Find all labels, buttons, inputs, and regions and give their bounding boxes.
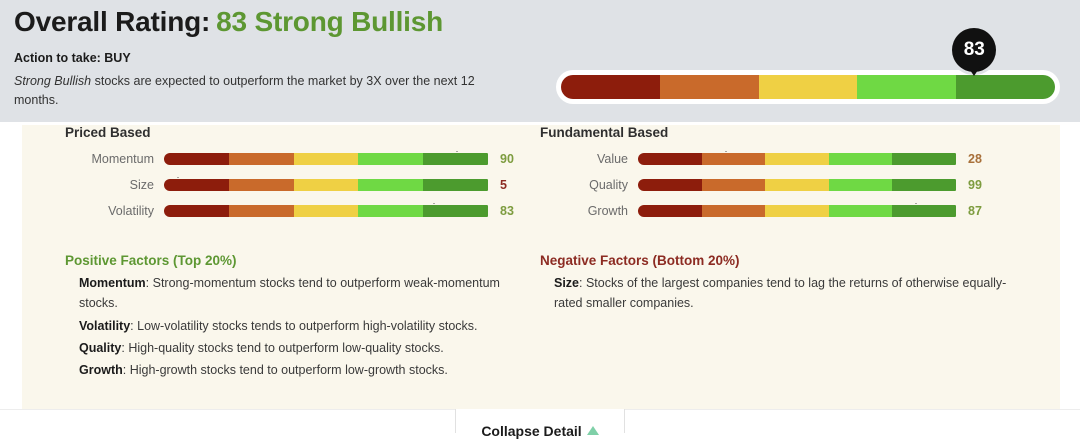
rating-header: Overall Rating:83 Strong Bullish Action …	[0, 0, 1080, 122]
factor-value: 28	[968, 152, 982, 166]
gauge-badge-pointer-icon	[966, 64, 982, 76]
priced-based-section: Priced Based Momentum 90 Size	[62, 125, 532, 224]
bar-segment-4	[829, 153, 893, 165]
rating-description: Strong Bullish stocks are expected to ou…	[14, 72, 494, 111]
factor-marker-icon	[171, 177, 185, 178]
bar-segment-3	[294, 205, 359, 217]
negative-factors-title: Negative Factors (Bottom 20%)	[540, 253, 1030, 268]
bar-segment-1	[164, 153, 229, 165]
factor-text: : High-quality stocks tend to outperform…	[121, 341, 443, 355]
factor-row: Size 5	[62, 172, 532, 198]
title-score: 83	[216, 6, 247, 37]
negative-factors-block: Negative Factors (Bottom 20%) Size: Stoc…	[540, 253, 1030, 316]
footer-left-filler	[0, 409, 455, 433]
positive-factors-list: Momentum: Strong-momentum stocks tend to…	[65, 273, 535, 380]
collapse-detail-button[interactable]: Collapse Detail	[455, 409, 625, 433]
bar-segment-2	[702, 153, 766, 165]
bar-segment-3	[765, 179, 829, 191]
factor-bar	[162, 203, 490, 219]
factor-value: 90	[500, 152, 514, 166]
factor-value: 83	[500, 204, 514, 218]
gauge-segment-4	[857, 75, 956, 99]
factor-name: Size	[554, 276, 579, 290]
bar-segment-2	[702, 205, 766, 217]
gauge-track	[556, 70, 1060, 104]
bar-segment-3	[765, 205, 829, 217]
bar-segment-4	[358, 153, 423, 165]
bar-segment-1	[164, 205, 229, 217]
bar-segment-1	[638, 205, 702, 217]
action-to-take: Action to take: BUY	[14, 51, 131, 65]
negative-factors-list: Size: Stocks of the largest companies te…	[540, 273, 1030, 314]
footer-right-filler	[625, 409, 1080, 433]
factor-row: Growth 87	[540, 198, 1030, 224]
positive-factors-title: Positive Factors (Top 20%)	[65, 253, 535, 268]
overall-rating-widget: Overall Rating:83 Strong Bullish Action …	[0, 0, 1080, 433]
bar-segment-1	[638, 153, 702, 165]
list-item: Growth: High-growth stocks tend to outpe…	[79, 360, 535, 380]
factor-row: Volatility 83	[62, 198, 532, 224]
bar-segment-4	[829, 205, 893, 217]
bar-segment-2	[702, 179, 766, 191]
list-item: Size: Stocks of the largest companies te…	[554, 273, 1030, 314]
bar-segment-2	[229, 153, 294, 165]
factor-marker-icon	[427, 203, 441, 204]
factor-name: Quality	[79, 341, 121, 355]
factor-marker-icon	[719, 151, 733, 152]
gauge-segment-1	[561, 75, 660, 99]
bar-segment-5	[892, 205, 956, 217]
factor-value: 99	[968, 178, 982, 192]
gauge-score-badge: 83	[952, 28, 996, 72]
bar-segment-5	[423, 179, 488, 191]
bar-segment-3	[294, 153, 359, 165]
factor-label: Size	[62, 178, 162, 192]
factor-marker-icon	[450, 151, 464, 152]
factor-bar	[636, 203, 958, 219]
list-item: Volatility: Low-volatility stocks tends …	[79, 316, 535, 336]
bar-segment-5	[423, 205, 488, 217]
gauge-segment-5	[956, 75, 1055, 99]
factor-bar	[162, 177, 490, 193]
bar-segment-1	[164, 179, 229, 191]
factor-bar	[636, 177, 958, 193]
title-prefix: Overall Rating:	[14, 6, 210, 37]
factor-bar	[162, 151, 490, 167]
gauge-score-badge-value: 83	[964, 39, 985, 61]
factor-label: Growth	[540, 204, 636, 218]
factor-marker-icon	[909, 203, 923, 204]
bar-segment-2	[229, 179, 294, 191]
factor-name: Momentum	[79, 276, 146, 290]
factor-row: Momentum 90	[62, 146, 532, 172]
bar-segment-5	[423, 153, 488, 165]
list-item: Momentum: Strong-momentum stocks tend to…	[79, 273, 535, 314]
bar-segment-2	[229, 205, 294, 217]
factor-label: Momentum	[62, 152, 162, 166]
factor-name: Growth	[79, 363, 123, 377]
factor-row: Quality 99	[540, 172, 1030, 198]
factor-bar	[636, 151, 958, 167]
factor-text: : High-growth stocks tend to outperform …	[123, 363, 448, 377]
list-item: Quality: High-quality stocks tend to out…	[79, 338, 535, 358]
bar-segment-4	[358, 179, 423, 191]
priced-based-title: Priced Based	[62, 125, 532, 140]
fundamental-based-section: Fundamental Based Value 28 Quality	[540, 125, 1030, 224]
factor-text: : Stocks of the largest companies tend t…	[554, 276, 1006, 310]
factor-label: Volatility	[62, 204, 162, 218]
title-rating-label: Strong Bullish	[255, 6, 444, 37]
positive-factors-block: Positive Factors (Top 20%) Momentum: Str…	[65, 253, 535, 382]
bar-segment-3	[765, 153, 829, 165]
gauge-segment-2	[660, 75, 759, 99]
factor-value: 5	[500, 178, 507, 192]
fundamental-based-title: Fundamental Based	[540, 125, 1030, 140]
factor-name: Volatility	[79, 319, 130, 333]
detail-panel: Priced Based Momentum 90 Size	[22, 125, 1060, 409]
factor-text: : Low-volatility stocks tends to outperf…	[130, 319, 477, 333]
gauge-segment-3	[759, 75, 858, 99]
factor-label: Value	[540, 152, 636, 166]
bar-segment-5	[892, 153, 956, 165]
bar-segment-1	[638, 179, 702, 191]
overall-rating-gauge: 83	[556, 70, 1060, 104]
chevron-up-icon	[587, 426, 599, 435]
factor-value: 87	[968, 204, 982, 218]
rating-description-emphasis: Strong Bullish	[14, 74, 91, 88]
bar-segment-4	[358, 205, 423, 217]
bar-segment-3	[294, 179, 359, 191]
factor-row: Value 28	[540, 146, 1030, 172]
bar-segment-5	[892, 179, 956, 191]
factor-marker-icon	[948, 177, 958, 178]
factor-label: Quality	[540, 178, 636, 192]
page-title: Overall Rating:83 Strong Bullish	[14, 6, 443, 38]
bar-segment-4	[829, 179, 893, 191]
collapse-detail-label: Collapse Detail	[481, 423, 581, 439]
